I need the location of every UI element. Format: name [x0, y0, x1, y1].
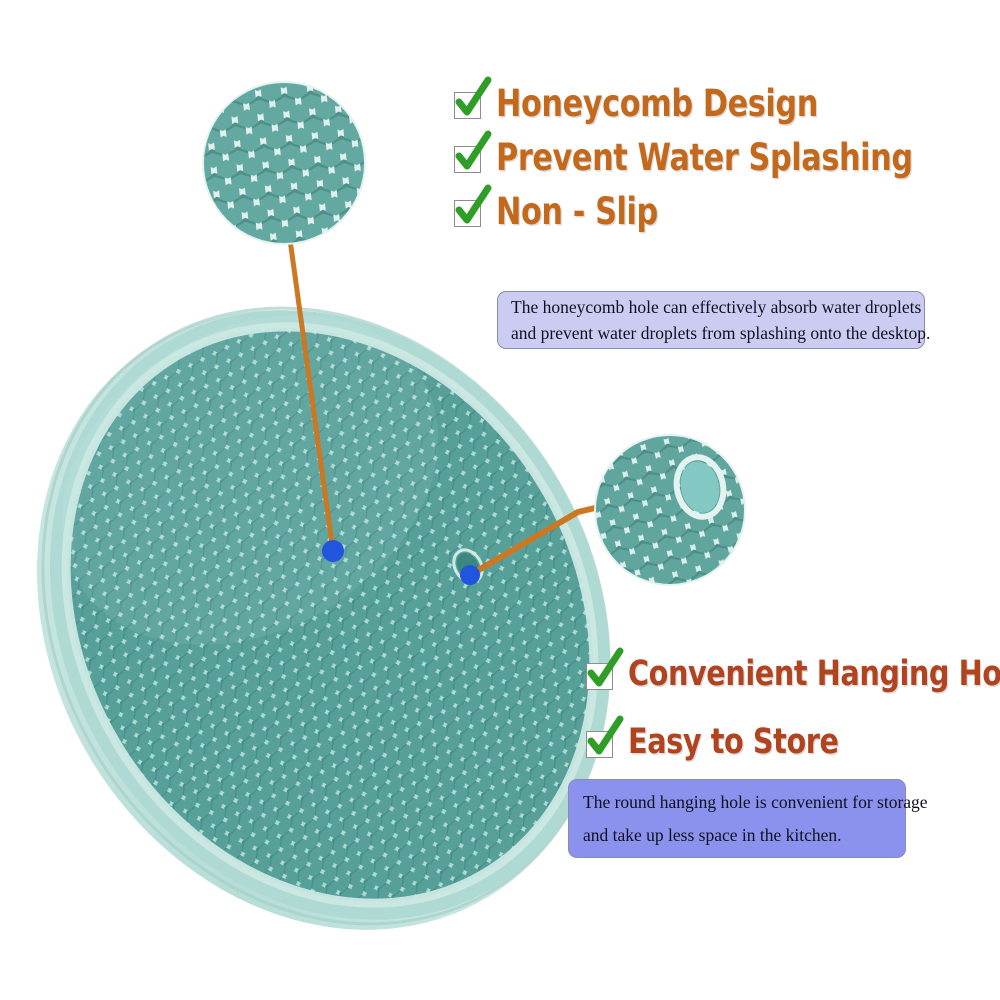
checkbox-checked-icon [584, 657, 618, 691]
description-line: and prevent water droplets from splashin… [511, 320, 911, 346]
zoom-circle-hanging-hole [592, 432, 750, 590]
product-infographic: Honeycomb Design Prevent Water Splashing… [0, 0, 1000, 1000]
feature-item-convenient-hanging-hole: Convenient Hanging Hole [584, 640, 984, 708]
hanging-hole-anchor-dot [460, 565, 480, 585]
feature-item-easy-to-store: Easy to Store [584, 708, 984, 776]
feature-label: Honeycomb Design [496, 82, 818, 125]
description-box-hanging-hole: The round hanging hole is convenient for… [568, 779, 906, 858]
feature-item-non-slip: Non - Slip [452, 184, 952, 238]
checkbox-checked-icon [452, 194, 486, 228]
checkbox-checked-icon [452, 86, 486, 120]
zoom-circle-honeycomb [200, 80, 370, 250]
feature-label: Convenient Hanging Hole [628, 654, 1000, 694]
feature-list-bottom: Convenient Hanging Hole Easy to Store [584, 640, 984, 776]
description-line: The honeycomb hole can effectively absor… [511, 294, 911, 320]
description-line: The round hanging hole is convenient for… [583, 786, 891, 819]
description-line: and take up less space in the kitchen. [583, 819, 891, 852]
feature-list-top: Honeycomb Design Prevent Water Splashing… [452, 76, 952, 238]
feature-item-honeycomb-design: Honeycomb Design [452, 76, 952, 130]
description-box-honeycomb: The honeycomb hole can effectively absor… [497, 291, 925, 349]
checkbox-checked-icon [584, 725, 618, 759]
feature-label: Prevent Water Splashing [496, 136, 913, 179]
feature-item-prevent-water-splashing: Prevent Water Splashing [452, 130, 952, 184]
honeycomb-anchor-dot [322, 540, 344, 562]
feature-label: Non - Slip [496, 190, 658, 233]
feature-label: Easy to Store [628, 722, 839, 762]
checkbox-checked-icon [452, 140, 486, 174]
